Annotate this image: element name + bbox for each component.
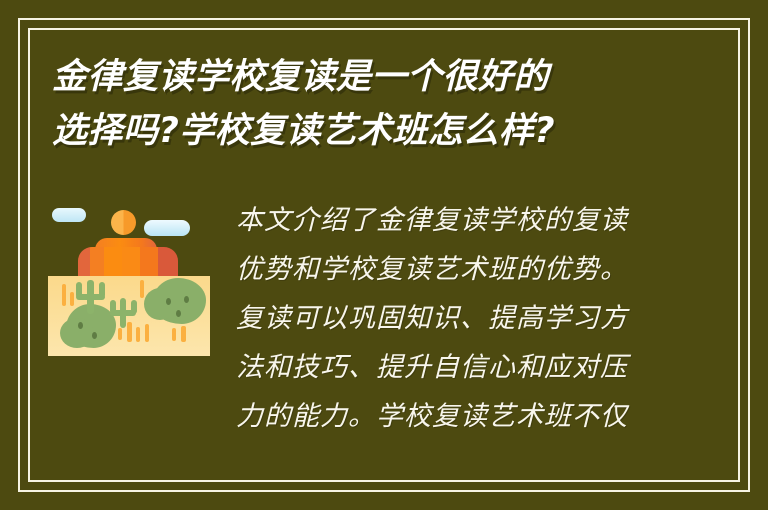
page-title: 金律复读学校复读是一个很好的 选择吗?学校复读艺术班怎么样?	[52, 50, 692, 158]
title-line-2: 选择吗?学校复读艺术班怎么样?	[52, 104, 692, 158]
bush-dot	[184, 296, 189, 303]
cactus-small-icon	[110, 298, 136, 328]
sun-icon	[111, 210, 136, 235]
poster-canvas: 金律复读学校复读是一个很好的 选择吗?学校复读艺术班怎么样?	[0, 0, 768, 510]
bush-dot	[176, 310, 181, 317]
sand-tick	[62, 284, 66, 306]
sand-tick	[145, 324, 149, 342]
bush-dot	[92, 332, 97, 339]
sand-tick	[118, 328, 122, 340]
title-line-1: 金律复读学校复读是一个很好的	[52, 50, 692, 104]
body-line-5: 力的能力。学校复读艺术班不仅	[236, 392, 686, 441]
cactus-large-icon	[76, 280, 104, 314]
cloud-right-icon	[144, 220, 190, 236]
desert-scene-illustration	[48, 200, 210, 356]
bush-dot	[78, 322, 83, 329]
sand-tick	[136, 327, 140, 342]
bush-dot	[166, 298, 171, 305]
body-line-4: 法和技巧、提升自信心和应对压	[236, 343, 686, 392]
sand-tick	[70, 292, 74, 306]
body-line-1: 本文介绍了金律复读学校的复读	[236, 196, 686, 245]
sand-tick	[181, 326, 186, 342]
content-row: 本文介绍了金律复读学校的复读 优势和学校复读艺术班的优势。 复读可以巩固知识、提…	[0, 196, 768, 486]
body-line-3: 复读可以巩固知识、提高学习方	[236, 294, 686, 343]
bush-right-icon	[152, 278, 206, 324]
body-paragraph: 本文介绍了金律复读学校的复读 优势和学校复读艺术班的优势。 复读可以巩固知识、提…	[236, 196, 686, 441]
cloud-left-icon	[52, 208, 86, 222]
sand-tick	[172, 328, 176, 341]
body-line-2: 优势和学校复读艺术班的优势。	[236, 245, 686, 294]
sand-tick	[140, 280, 144, 298]
